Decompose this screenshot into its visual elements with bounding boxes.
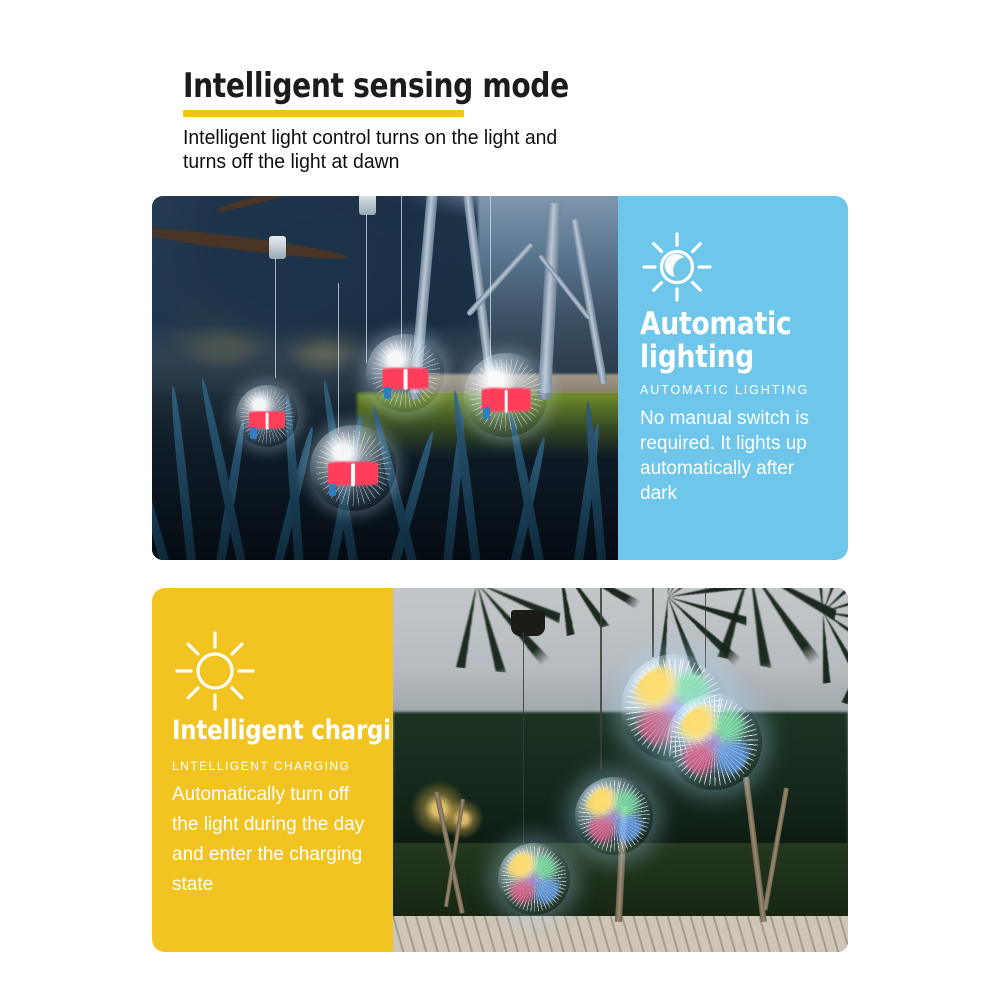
solar-light-ball [666, 694, 762, 790]
hanging-wire [490, 196, 491, 356]
title-underline-rule [183, 110, 464, 117]
feature-heading-line-2: lighting [640, 341, 822, 374]
feature-heading-line-1: Intelligent charging [172, 716, 367, 746]
hanging-wire [600, 588, 602, 770]
feature-body-intelligent-charging: Automatically turn off the light during … [172, 780, 372, 900]
feature-panel-automatic-lighting: Automatic lighting AUTOMATIC LIGHTING No… [618, 196, 848, 560]
page-subtitle: Intelligent light control turns on the l… [183, 126, 639, 174]
ball-base-clip [329, 484, 336, 496]
feature-body-automatic-lighting: No manual switch is required. It lights … [640, 406, 832, 506]
hanging-wire [275, 258, 276, 378]
page-subtitle-line-1: Intelligent light control turns on the l… [183, 126, 639, 150]
feature-heading-intelligent-charging: Intelligent charging [172, 716, 367, 746]
page-subtitle-line-2: turns off the light at dawn [183, 150, 639, 174]
feature-heading-line-1: Automatic [640, 308, 822, 341]
photo-dusk-garden [152, 196, 618, 560]
solar-light-ball [464, 353, 548, 437]
solar-panel-cap [359, 196, 376, 215]
feature-subheading-automatic-lighting: AUTOMATIC LIGHTING [640, 383, 832, 397]
feature-panel-intelligent-charging: Intelligent charging LNTELLIGENT CHARGIN… [152, 588, 393, 952]
ball-base-clip [250, 427, 257, 439]
page-title: Intelligent sensing mode [183, 66, 790, 106]
solar-light-ball [236, 385, 298, 447]
sun-icon [172, 628, 379, 714]
hanging-wire [705, 588, 707, 668]
hanging-wire [366, 214, 367, 363]
solar-light-ball [498, 843, 570, 915]
feature-heading-automatic-lighting: Automatic lighting [640, 308, 822, 374]
hanging-wire [523, 632, 525, 843]
hanging-wire [401, 196, 402, 338]
solar-light-ball [575, 777, 653, 855]
hanging-wire [338, 283, 339, 432]
ball-base-clip [483, 407, 490, 419]
heading-block: Intelligent sensing mode Intelligent lig… [183, 66, 843, 174]
feature-row-intelligent-charging: Intelligent charging LNTELLIGENT CHARGIN… [152, 588, 848, 952]
sun-moon-icon [640, 230, 832, 304]
photo-tropical-night [393, 588, 848, 952]
ball-base-clip [384, 387, 391, 399]
hanging-wire [652, 588, 654, 657]
infographic-page: Intelligent sensing mode Intelligent lig… [0, 0, 1000, 1000]
feature-row-automatic-lighting: Automatic lighting AUTOMATIC LIGHTING No… [152, 196, 848, 560]
solar-panel-cap [269, 236, 286, 259]
hanging-planter [511, 610, 545, 636]
feature-subheading-intelligent-charging: LNTELLIGENT CHARGING [172, 759, 379, 773]
